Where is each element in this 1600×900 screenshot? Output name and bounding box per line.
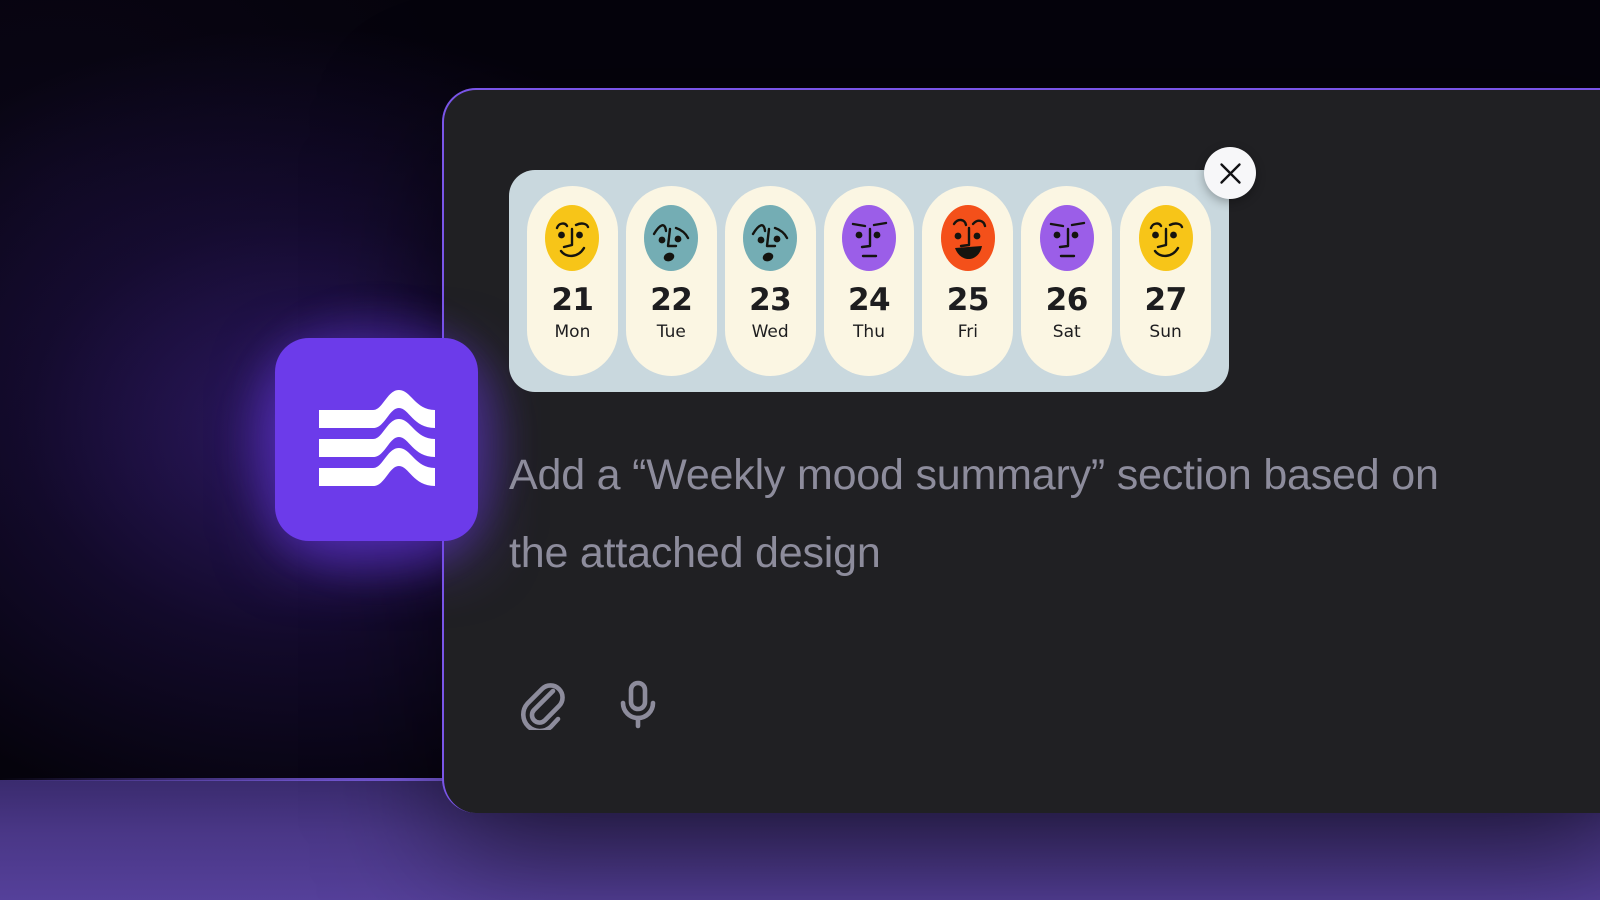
app-logo[interactable] bbox=[275, 338, 478, 541]
app-window: 21Mon22Tue23Wed24Thu25Fri26Sat27Sun Add … bbox=[0, 0, 1600, 900]
mood-face-happy-icon bbox=[1133, 200, 1199, 276]
day-pill-sat[interactable]: 26Sat bbox=[1021, 186, 1112, 376]
day-pill-wed[interactable]: 23Wed bbox=[725, 186, 816, 376]
attach-button[interactable] bbox=[509, 668, 575, 740]
day-weekday: Wed bbox=[752, 324, 789, 341]
day-pill-thu[interactable]: 24Thu bbox=[824, 186, 915, 376]
close-icon bbox=[1217, 160, 1244, 187]
mood-face-neutral-icon bbox=[836, 200, 902, 276]
day-weekday: Tue bbox=[657, 324, 686, 341]
day-number: 27 bbox=[1145, 285, 1187, 316]
day-weekday: Sun bbox=[1149, 324, 1181, 341]
paperclip-icon bbox=[519, 678, 565, 730]
day-number: 23 bbox=[749, 285, 791, 316]
mood-face-sad-icon bbox=[638, 200, 704, 276]
mood-face-sad-icon bbox=[737, 200, 803, 276]
day-number: 26 bbox=[1046, 285, 1088, 316]
mood-face-happy-icon bbox=[539, 200, 605, 276]
day-pill-tue[interactable]: 22Tue bbox=[626, 186, 717, 376]
mood-face-neutral-icon bbox=[1034, 200, 1100, 276]
close-attachment-button[interactable] bbox=[1204, 147, 1256, 199]
day-weekday: Sat bbox=[1053, 324, 1081, 341]
day-number: 22 bbox=[650, 285, 692, 316]
day-weekday: Thu bbox=[853, 324, 885, 341]
composer-toolbar bbox=[509, 668, 671, 740]
day-pill-sun[interactable]: 27Sun bbox=[1120, 186, 1211, 376]
waves-logo-icon bbox=[309, 380, 445, 500]
day-pill-mon[interactable]: 21Mon bbox=[527, 186, 618, 376]
mood-face-excited-icon bbox=[935, 200, 1001, 276]
day-weekday: Fri bbox=[958, 324, 978, 341]
day-weekday: Mon bbox=[555, 324, 591, 341]
day-number: 24 bbox=[848, 285, 890, 316]
voice-button[interactable] bbox=[605, 668, 671, 740]
mood-summary-attachment-card[interactable]: 21Mon22Tue23Wed24Thu25Fri26Sat27Sun bbox=[509, 170, 1229, 392]
day-number: 25 bbox=[947, 285, 989, 316]
microphone-icon bbox=[615, 678, 661, 730]
day-pill-fri[interactable]: 25Fri bbox=[922, 186, 1013, 376]
day-number: 21 bbox=[551, 285, 593, 316]
prompt-text[interactable]: Add a “Weekly mood summary” section base… bbox=[509, 436, 1469, 592]
